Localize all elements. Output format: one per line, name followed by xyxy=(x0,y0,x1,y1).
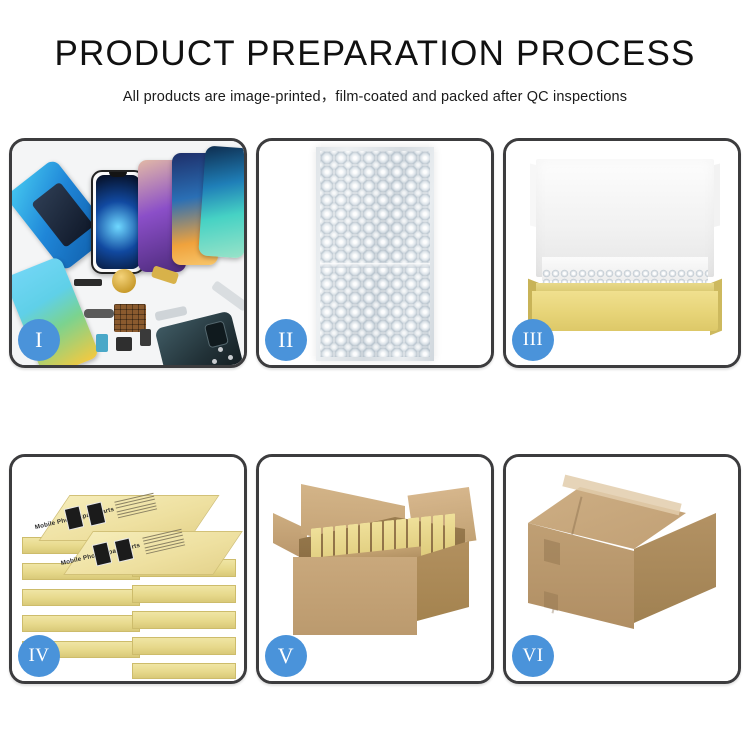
header: PRODUCT PREPARATION PROCESS All products… xyxy=(0,0,750,106)
process-step-grid: I II xyxy=(9,138,741,684)
step-badge-4: IV xyxy=(18,635,60,677)
camera-module-part xyxy=(96,334,108,352)
phone-screen-front xyxy=(91,170,145,274)
connector-bar-part xyxy=(74,279,102,286)
flex-cable-grey-part xyxy=(154,306,187,321)
step-panel-2: II xyxy=(256,138,494,368)
notch-icon xyxy=(109,172,127,177)
carton-flap-mark-lower xyxy=(544,591,558,611)
flex-cable-dark-part xyxy=(84,309,114,318)
stacked-box xyxy=(132,585,236,603)
screw-part xyxy=(228,355,233,360)
screw-part xyxy=(212,359,217,364)
tweezers-tool xyxy=(211,280,244,312)
stacked-box xyxy=(132,637,236,655)
vibration-motor-part xyxy=(112,269,136,293)
step-badge-1: I xyxy=(18,319,60,361)
stacked-box xyxy=(132,611,236,629)
wrap-seam xyxy=(320,263,430,268)
step-panel-6: VI xyxy=(503,454,741,684)
step-panel-3: III xyxy=(503,138,741,368)
step-panel-5: V xyxy=(256,454,494,684)
step-badge-5: V xyxy=(265,635,307,677)
step-panel-4: Mobile Phone Spare Parts Mobile Phone Sp… xyxy=(9,454,247,684)
bubble-wrap-pouch xyxy=(316,147,434,361)
chip-array-part xyxy=(114,304,146,332)
step-badge-3: III xyxy=(512,319,554,361)
stacked-box xyxy=(22,589,140,606)
step-badge-2: II xyxy=(265,319,307,361)
carton-front-face xyxy=(293,557,417,635)
battery-part xyxy=(140,329,151,346)
product-preparation-infographic: PRODUCT PREPARATION PROCESS All products… xyxy=(0,0,750,750)
stacked-box xyxy=(22,615,140,632)
bubble-texture-layer-2 xyxy=(320,151,430,357)
page-title: PRODUCT PREPARATION PROCESS xyxy=(0,36,750,73)
step-badge-6: VI xyxy=(512,635,554,677)
carton-flap-mark-upper xyxy=(544,539,560,565)
page-subtitle: All products are image-printed，film-coat… xyxy=(0,85,750,106)
speaker-part xyxy=(116,337,132,351)
screw-part xyxy=(218,347,223,352)
box-front-face xyxy=(532,291,718,331)
step-panel-1: I xyxy=(9,138,247,368)
phone-teal xyxy=(198,146,244,259)
stacked-box xyxy=(132,663,236,679)
